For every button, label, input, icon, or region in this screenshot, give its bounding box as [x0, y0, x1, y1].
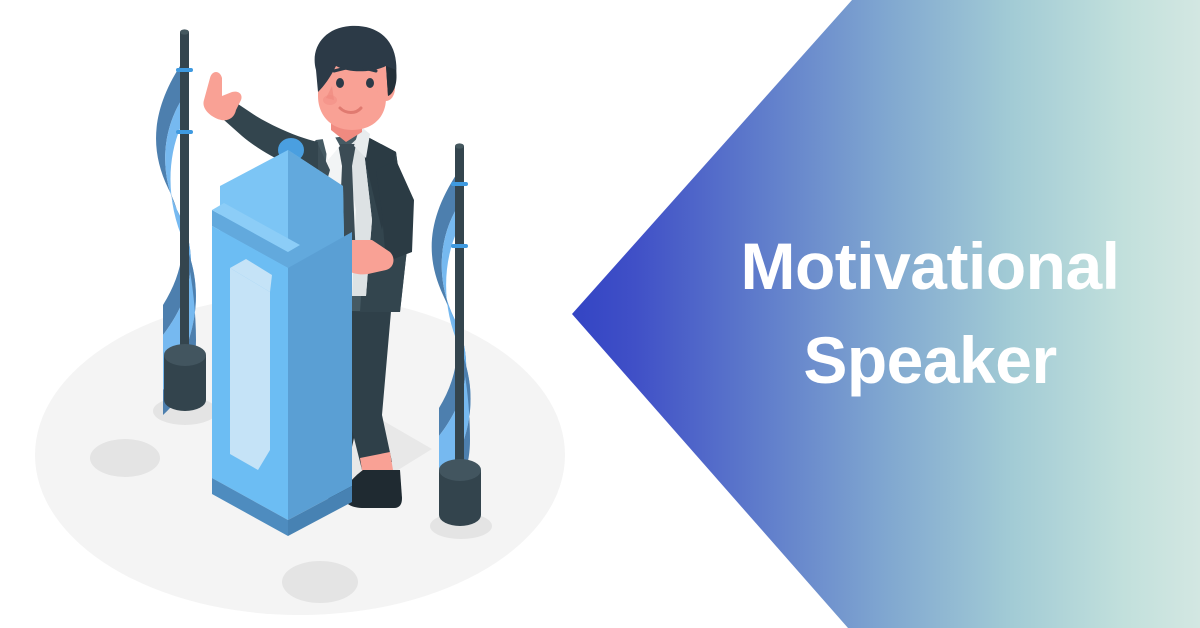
flag-left-clip-top	[176, 68, 193, 72]
podium-body-side	[288, 232, 352, 520]
flag-left-pole-cap	[180, 29, 189, 34]
speaker-cheek	[323, 95, 337, 105]
flag-right-clip-top	[451, 182, 468, 186]
title-line-2: Speaker	[803, 314, 1056, 408]
flag-right-pole-cap	[455, 143, 464, 148]
speaker-illustration	[0, 0, 600, 628]
speaker-eye-left	[336, 78, 344, 88]
flag-left-pole	[180, 32, 189, 392]
title-line-1: Motivational	[740, 220, 1119, 314]
flag-left-clip-bottom	[176, 130, 193, 134]
floor-spot-bottom	[282, 561, 358, 603]
flag-right-pole	[455, 146, 464, 508]
page-title: Motivational Speaker	[660, 0, 1200, 628]
flag-right-base-top	[439, 459, 481, 481]
podium-panel	[230, 268, 270, 470]
flag-left-base-top	[164, 344, 206, 366]
motivational-speaker-banner: Motivational Speaker	[0, 0, 1200, 628]
flag-right-clip-bottom	[451, 244, 468, 248]
podium	[212, 150, 352, 536]
floor-spot-left	[90, 439, 160, 477]
speaker-eye-right	[366, 78, 374, 88]
